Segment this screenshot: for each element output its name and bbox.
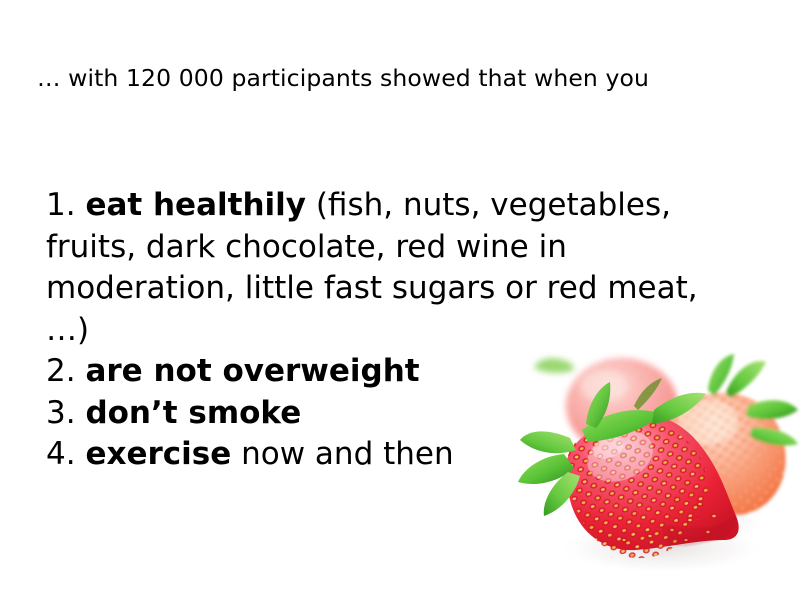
list-item-rest-text: now and then	[231, 436, 453, 472]
list-item-number: 1.	[46, 187, 76, 223]
list-item-bold-text: exercise	[85, 436, 231, 472]
list-item-bold-text: don’t smoke	[85, 395, 301, 431]
slide-title: … with 120 000 participants showed that …	[37, 64, 777, 93]
list-item-bold-text: eat healthily	[85, 187, 306, 223]
slide-canvas: … with 120 000 participants showed that …	[0, 0, 800, 600]
berry-leaf	[520, 431, 576, 453]
strawberries-photo	[512, 344, 800, 592]
list-item: 1. eat healthily (fish, nuts, vegetables…	[46, 185, 734, 351]
list-item-number: 4.	[46, 436, 76, 472]
list-item-number: 3.	[46, 395, 76, 431]
list-item-bold-text: are not overweight	[85, 353, 419, 389]
list-item-number: 2.	[46, 353, 76, 389]
